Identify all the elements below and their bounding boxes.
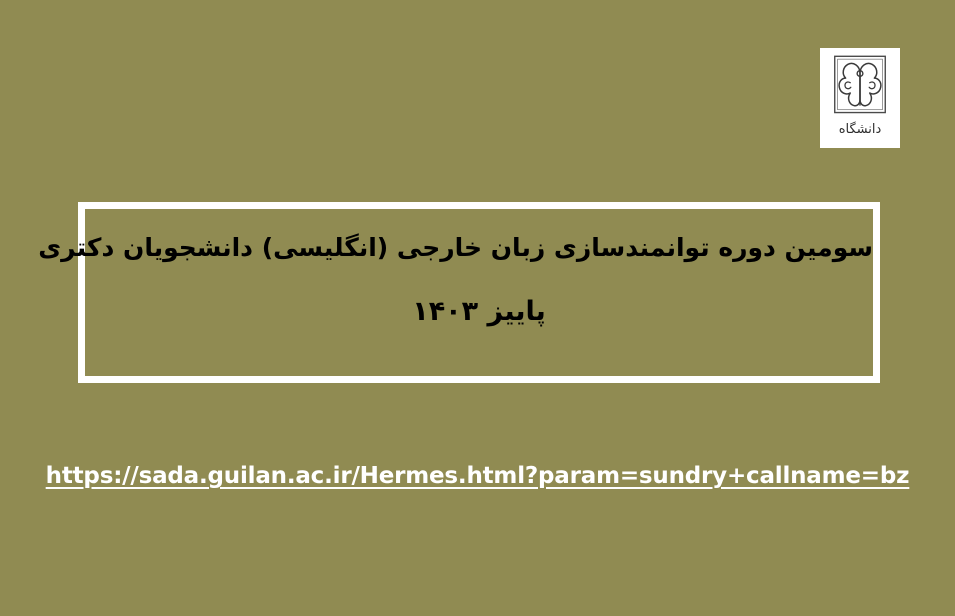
headline-line-1: سومین دوره توانمندسازی زبان خارجی (انگلی…: [85, 232, 873, 263]
headline-line-2: پاییز ۱۴۰۳: [85, 295, 873, 329]
university-logo-caption: دانشگاه گیلان: [826, 117, 894, 143]
registration-link-row: https://sada.guilan.ac.ir/Hermes.html?pa…: [0, 463, 955, 489]
headline-frame: سومین دوره توانمندسازی زبان خارجی (انگلی…: [78, 202, 880, 383]
university-logo: دانشگاه گیلان: [820, 48, 900, 148]
university-emblem-icon: [831, 54, 889, 116]
registration-url-link[interactable]: https://sada.guilan.ac.ir/Hermes.html?pa…: [46, 463, 910, 489]
poster-canvas: دانشگاه گیلان سومین دوره توانمندسازی زبا…: [0, 0, 955, 616]
